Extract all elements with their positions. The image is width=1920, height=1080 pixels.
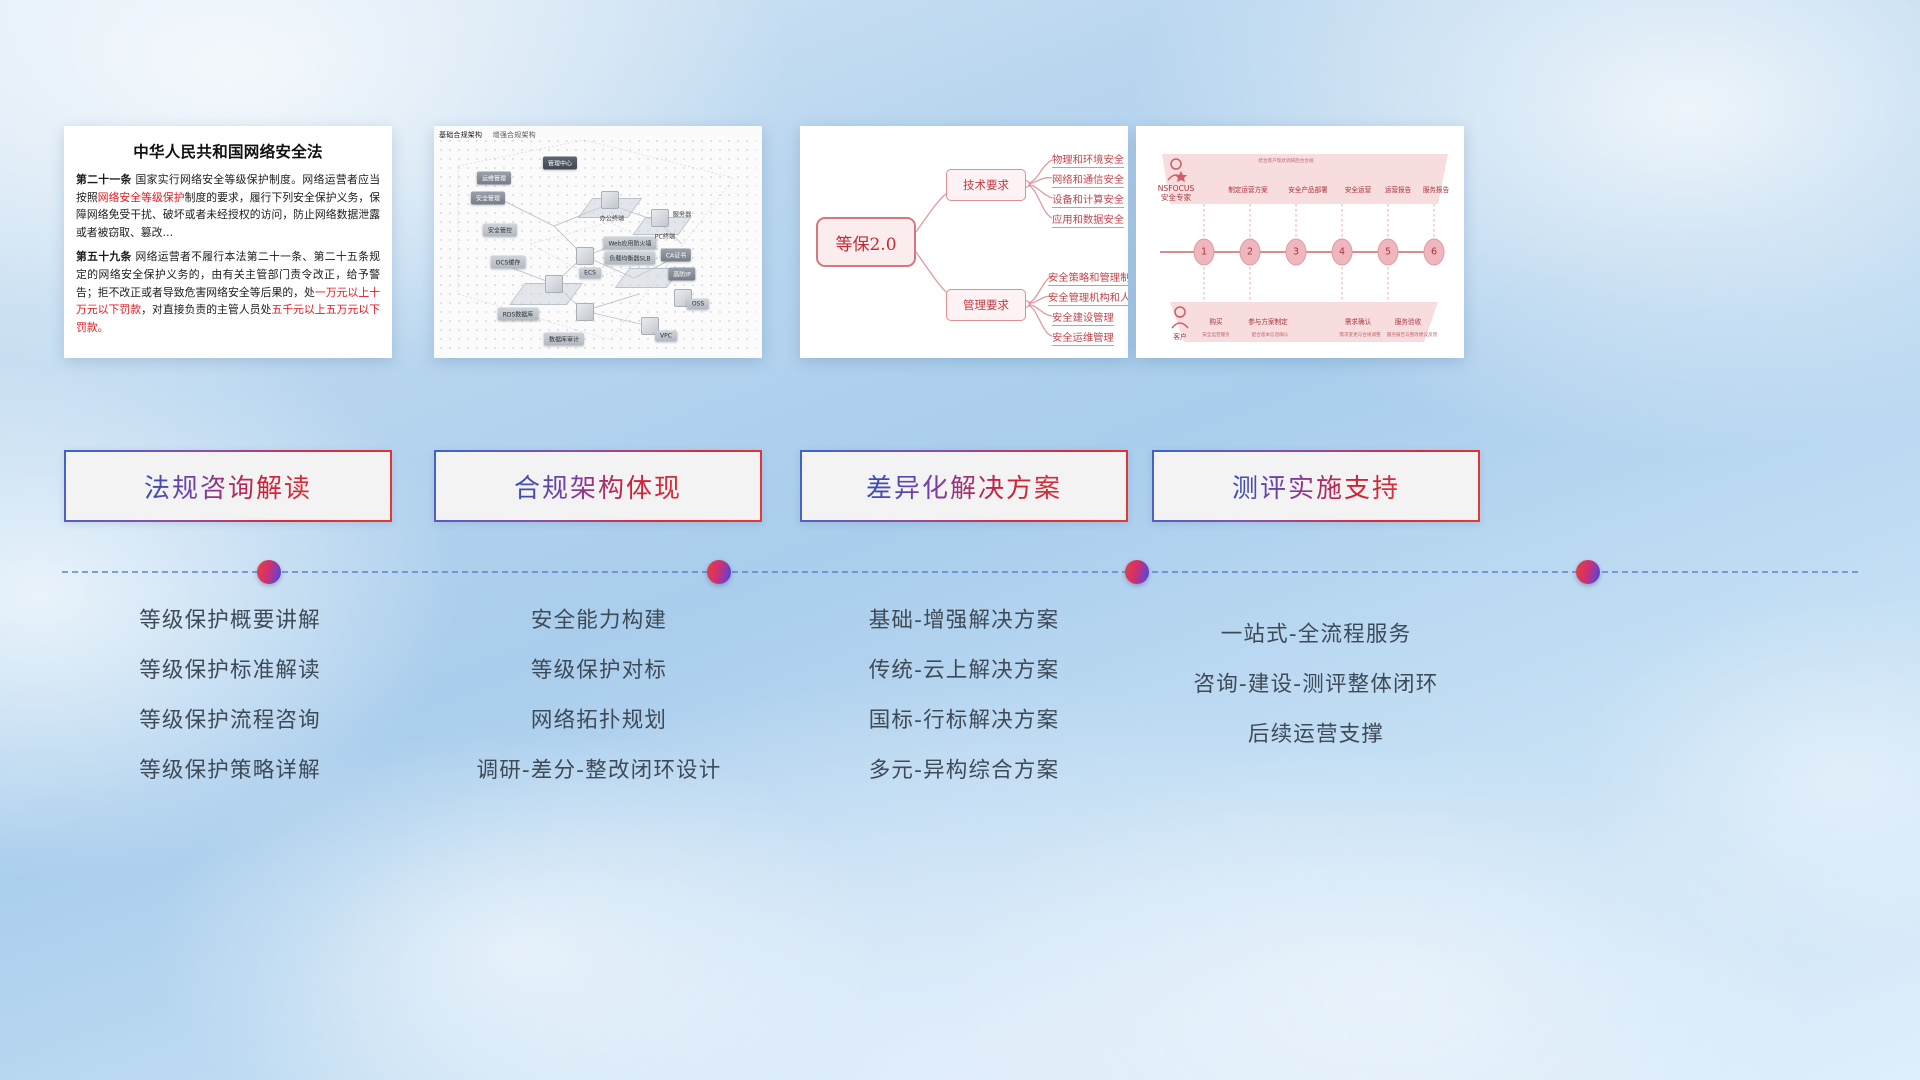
- mindmap-leaf-application: 应用和数据安全: [1052, 211, 1124, 228]
- timeline-dot-2[interactable]: [707, 560, 731, 584]
- law-highlight-21: 网络安全等级保护: [98, 191, 185, 204]
- list-item: 后续运营支撑: [1148, 710, 1484, 760]
- list-item: 等级保护流程咨询: [64, 696, 396, 746]
- timeline-dot-4[interactable]: [1576, 560, 1600, 584]
- list-item: 等级保护对标: [432, 646, 766, 696]
- pillar-title-box-1[interactable]: 法规咨询解读: [64, 450, 392, 522]
- flow-bottom-note-1: 安全运营服务: [1202, 332, 1230, 338]
- list-item: 国标-行标解决方案: [796, 696, 1132, 746]
- list-item: 传统-云上解决方案: [796, 646, 1132, 696]
- list-item: 调研-差分-整改闭环设计: [432, 746, 766, 796]
- architecture-connectors: [434, 126, 762, 358]
- pillar-list-2: 安全能力构建 等级保护对标 网络拓扑规划 调研-差分-整改闭环设计: [432, 596, 766, 796]
- flow-bottom-step-4: 服务验收: [1395, 316, 1421, 326]
- list-item: 咨询-建设-测评整体闭环: [1148, 660, 1484, 710]
- list-item: 等级保护概要讲解: [64, 596, 396, 646]
- flow-top-step-3: 安全运营: [1345, 184, 1371, 194]
- list-item: 安全能力构建: [432, 596, 766, 646]
- timeline-dot-3[interactable]: [1125, 560, 1149, 584]
- law-paragraph-21: 第二十一条 国家实行网络安全等级保护制度。网络运营者应当按照网络安全等级保护制度…: [76, 171, 380, 241]
- chip-rds-db: RDS数据库: [498, 308, 539, 321]
- slide-stage: 中华人民共和国网络安全法 第二十一条 国家实行网络安全等级保护制度。网络运营者应…: [0, 0, 1920, 1080]
- chip-ops-management: 运维管理: [477, 172, 511, 185]
- pillar-title-1: 法规咨询解读: [144, 468, 312, 505]
- flow-step-number-1: 1: [1194, 239, 1215, 266]
- law-document: 中华人民共和国网络安全法 第二十一条 国家实行网络安全等级保护制度。网络运营者应…: [64, 126, 392, 358]
- card-compliance-architecture[interactable]: 基础合规架构 增强合规架构: [434, 126, 762, 358]
- flow-step-number-4: 4: [1332, 239, 1353, 266]
- chip-ca-cert: CA证书: [661, 249, 691, 262]
- pillar-title-box-2[interactable]: 合规架构体现: [434, 450, 762, 522]
- flow-bottom-step-2: 参与方案制定: [1248, 316, 1288, 326]
- icon-node-ecs: [576, 247, 594, 265]
- mindmap-leaf-policy: 安全策略和管理制度: [1048, 269, 1128, 286]
- flow-bottom-note-3: 需求变更与合规调整: [1339, 332, 1380, 338]
- flow-step-number-3: 3: [1286, 239, 1307, 266]
- pillar-list-1: 等级保护概要讲解 等级保护标准解读 等级保护流程咨询 等级保护策略详解: [64, 596, 396, 796]
- mindmap-leaf-construction: 安全建设管理: [1052, 309, 1114, 326]
- card-service-flow[interactable]: 1 2 3 4 5 6 结合客户现状调研后台合规 NSFOCUS 安全专家 制定…: [1136, 126, 1464, 358]
- list-item: 一站式-全流程服务: [1148, 610, 1484, 660]
- label-pc-terminal: PC终端: [655, 232, 675, 241]
- pillar-titles-row: 法规咨询解读 合规架构体现 差异化解决方案 测评实施支持: [0, 450, 1920, 522]
- flow-step-number-6: 6: [1424, 239, 1445, 266]
- list-item: 网络拓扑规划: [432, 696, 766, 746]
- label-office-terminal: 办公终端: [600, 214, 625, 223]
- icon-node-ocs: [545, 275, 563, 293]
- icon-server-b: [651, 209, 669, 227]
- flow-step-number-2: 2: [1240, 239, 1261, 266]
- mindmap-leaf-device: 设备和计算安全: [1052, 191, 1124, 208]
- mindmap-branch-technical: 技术要求: [946, 169, 1026, 201]
- flow-bottom-step-3: 需求确认: [1345, 316, 1371, 326]
- pillar-title-box-4[interactable]: 测评实施支持: [1152, 450, 1480, 522]
- flow-bottom-role: 客户: [1173, 331, 1186, 341]
- chip-vpc: VPC: [655, 331, 677, 342]
- chip-security-control: 安全管控: [483, 224, 517, 237]
- law-text-mid-59: ，对直接负责的主管人员处: [141, 303, 271, 316]
- flow-top-step-1: 制定运营方案: [1228, 184, 1268, 194]
- chip-db-audit: 数据库审计: [544, 333, 584, 346]
- flow-top-step-5: 服务报告: [1423, 184, 1449, 194]
- mindmap-leaf-network: 网络和通信安全: [1052, 171, 1124, 188]
- pillar-list-3: 基础-增强解决方案 传统-云上解决方案 国标-行标解决方案 多元-异构综合方案: [796, 596, 1132, 796]
- chip-high-defense-ip: 高防IP: [668, 268, 695, 281]
- label-server: 服务器: [673, 210, 692, 219]
- mindmap-root: 等保2.0: [816, 217, 916, 267]
- pillar-title-box-3[interactable]: 差异化解决方案: [800, 450, 1128, 522]
- icon-node-rds: [576, 303, 594, 321]
- icon-server-a: [601, 191, 619, 209]
- flow-top-step-4: 运营报告: [1385, 184, 1411, 194]
- list-item: 等级保护策略详解: [64, 746, 396, 796]
- pillar-title-3: 差异化解决方案: [866, 468, 1062, 505]
- flow-top-step-2: 安全产品部署: [1288, 184, 1328, 194]
- flow-top-note: 结合客户现状调研后台合规: [1258, 158, 1313, 164]
- flow-bottom-note-2: 配合基本信息确认: [1252, 332, 1289, 338]
- list-item: 等级保护标准解读: [64, 646, 396, 696]
- list-item: 多元-异构综合方案: [796, 746, 1132, 796]
- pillar-title-2: 合规架构体现: [514, 468, 682, 505]
- preview-cards-row: 中华人民共和国网络安全法 第二十一条 国家实行网络安全等级保护制度。网络运营者应…: [0, 126, 1920, 358]
- architecture-diagram: 基础合规架构 增强合规架构: [434, 126, 762, 358]
- chip-oss: OSS: [687, 299, 709, 310]
- mindmap-leaf-ops: 安全运维管理: [1052, 329, 1114, 346]
- mindmap: 等保2.0 技术要求 管理要求 物理和环境安全 网络和通信安全 设备和计算安全 …: [800, 126, 1128, 358]
- law-article-label-21: 第二十一条: [76, 173, 132, 186]
- law-title: 中华人民共和国网络安全法: [76, 140, 380, 162]
- card-cybersecurity-law[interactable]: 中华人民共和国网络安全法 第二十一条 国家实行网络安全等级保护制度。网络运营者应…: [64, 126, 392, 358]
- timeline-dot-1[interactable]: [257, 560, 281, 584]
- mindmap-branch-management: 管理要求: [946, 289, 1026, 321]
- law-article-label-59: 第五十九条: [76, 250, 132, 263]
- chip-web-af: Web应用防火墙: [603, 237, 656, 250]
- flow-top-role: NSFOCUS 安全专家: [1158, 184, 1195, 202]
- flow-step-number-5: 5: [1378, 239, 1399, 266]
- timeline: [0, 560, 1920, 584]
- pillar-title-4: 测评实施支持: [1232, 468, 1400, 505]
- chip-slb: 负载均衡器SLB: [604, 252, 655, 265]
- list-item: 基础-增强解决方案: [796, 596, 1132, 646]
- law-paragraph-59: 第五十九条 网络运营者不履行本法第二十一条、第二十五条规定的网络安全保护义务的，…: [76, 248, 380, 336]
- flow-bottom-note-4: 服务报告与整改建议反馈: [1387, 332, 1438, 338]
- service-flow-diagram: 1 2 3 4 5 6 结合客户现状调研后台合规 NSFOCUS 安全专家 制定…: [1136, 126, 1464, 358]
- chip-ocs-cache: OCS缓存: [491, 256, 526, 269]
- mindmap-leaf-org: 安全管理机构和人员: [1048, 289, 1128, 306]
- chip-ecs: ECS: [579, 268, 601, 279]
- chip-management-center: 管理中心: [543, 157, 577, 170]
- pillar-list-4: 一站式-全流程服务 咨询-建设-测评整体闭环 后续运营支撑: [1148, 610, 1484, 760]
- chip-security-management: 安全管理: [471, 192, 505, 205]
- card-mindmap-dengbao[interactable]: 等保2.0 技术要求 管理要求 物理和环境安全 网络和通信安全 设备和计算安全 …: [800, 126, 1128, 358]
- flow-bottom-step-1: 购买: [1209, 316, 1222, 326]
- mindmap-leaf-physical: 物理和环境安全: [1052, 151, 1124, 168]
